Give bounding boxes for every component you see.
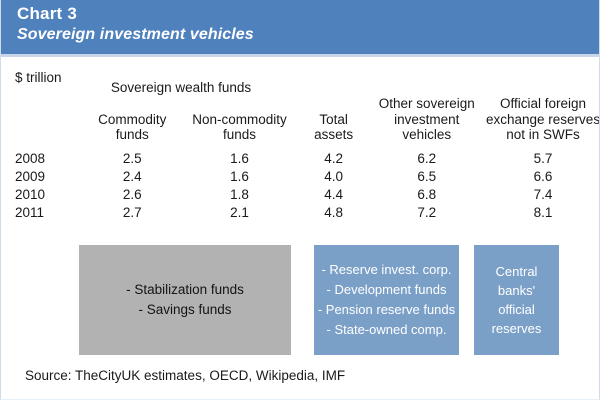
cell-fx: 7.4	[485, 184, 600, 202]
unit-label: $ trillion	[15, 70, 62, 85]
table-header-row: Commodity funds Non-commodity funds Tota…	[1, 96, 600, 145]
cell-commodity: 2.5	[84, 145, 180, 167]
callout-box-swf: - Stabilization funds - Savings funds	[79, 245, 291, 355]
cell-other: 6.8	[369, 184, 486, 202]
cell-total: 4.8	[299, 202, 369, 220]
cell-total: 4.2	[299, 145, 369, 167]
cell-commodity: 2.4	[84, 166, 180, 184]
column-header-year	[1, 96, 84, 145]
callout-line: - Pension reserve funds	[318, 300, 455, 320]
column-header-fx-reserves: Official foreign exchange reserves not i…	[485, 96, 600, 145]
data-table: Commodity funds Non-commodity funds Tota…	[1, 96, 600, 220]
callout-line: official	[498, 300, 535, 319]
callout-line: - Stabilization funds	[126, 280, 244, 300]
cell-fx: 8.1	[485, 202, 600, 220]
table-row: 2010 2.6 1.8 4.4 6.8 7.4	[1, 184, 600, 202]
cell-noncommodity: 1.6	[180, 166, 298, 184]
table-row: 2009 2.4 1.6 4.0 6.5 6.6	[1, 166, 600, 184]
cell-noncommodity: 2.1	[180, 202, 298, 220]
callout-box-central-banks: Central banks' official reserves	[474, 245, 559, 355]
cell-commodity: 2.7	[84, 202, 180, 220]
cell-commodity: 2.6	[84, 184, 180, 202]
chart-subtitle: Sovereign investment vehicles	[17, 26, 254, 44]
cell-year: 2009	[1, 166, 84, 184]
cell-year: 2008	[1, 145, 84, 167]
source-note: Source: TheCityUK estimates, OECD, Wikip…	[25, 368, 345, 383]
callout-line: banks'	[498, 281, 535, 300]
chart-figure: Chart 3 Sovereign investment vehicles $ …	[0, 0, 600, 400]
cell-noncommodity: 1.8	[180, 184, 298, 202]
cell-other: 6.5	[369, 166, 486, 184]
cell-noncommodity: 1.6	[180, 145, 298, 167]
column-header-noncommodity: Non-commodity funds	[180, 96, 298, 145]
table-body: 2008 2.5 1.6 4.2 6.2 5.7 2009 2.4 1.6 4.…	[1, 145, 600, 221]
cell-other: 7.2	[369, 202, 486, 220]
table-row: 2011 2.7 2.1 4.8 7.2 8.1	[1, 202, 600, 220]
callout-line: - Savings funds	[138, 300, 231, 320]
cell-total: 4.4	[299, 184, 369, 202]
callout-line: Central	[496, 262, 538, 281]
cell-fx: 5.7	[485, 145, 600, 167]
column-header-commodity: Commodity funds	[84, 96, 180, 145]
table-header: Commodity funds Non-commodity funds Tota…	[1, 96, 600, 145]
column-group-label-swf: Sovereign wealth funds	[71, 80, 291, 95]
callout-line: - State-owned comp.	[327, 320, 447, 340]
callout-line: - Reserve invest. corp.	[321, 260, 451, 280]
callout-box-other-sovereign: - Reserve invest. corp. - Development fu…	[314, 245, 459, 355]
cell-total: 4.0	[299, 166, 369, 184]
callout-line: reserves	[492, 319, 542, 338]
cell-fx: 6.6	[485, 166, 600, 184]
cell-other: 6.2	[369, 145, 486, 167]
chart-title: Chart 3	[17, 4, 77, 24]
chart-header-band: Chart 3 Sovereign investment vehicles	[1, 0, 600, 57]
column-header-other-sovereign: Other sovereign investment vehicles	[369, 96, 486, 145]
column-header-total-assets: Total assets	[299, 96, 369, 145]
table-row: 2008 2.5 1.6 4.2 6.2 5.7	[1, 145, 600, 167]
cell-year: 2010	[1, 184, 84, 202]
callout-line: - Development funds	[327, 280, 447, 300]
cell-year: 2011	[1, 202, 84, 220]
